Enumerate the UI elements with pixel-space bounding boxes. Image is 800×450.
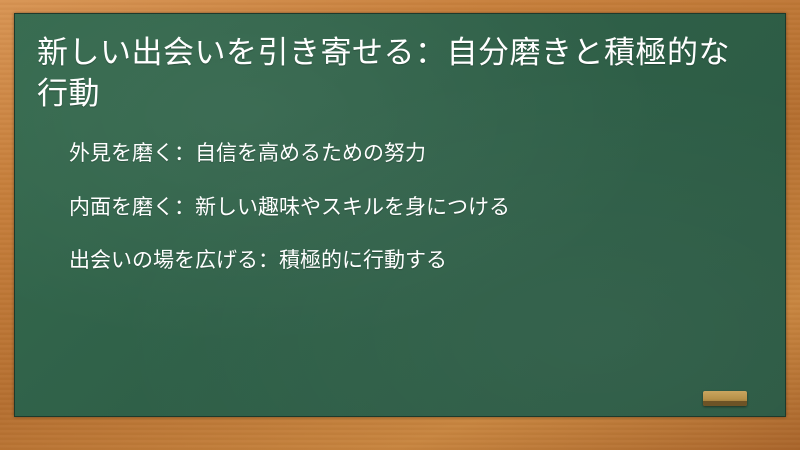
bullet-list: 外見を磨く：自信を高めるための努力 内面を磨く：新しい趣味やスキルを身につける …	[37, 140, 759, 274]
slide-content: 新しい出会いを引き寄せる：自分磨きと積極的な行動 外見を磨く：自信を高めるための…	[15, 14, 785, 416]
list-item: 内面を磨く：新しい趣味やスキルを身につける	[37, 194, 759, 221]
eraser-icon	[703, 391, 747, 406]
eraser-felt	[703, 401, 747, 406]
chalkboard: 新しい出会いを引き寄せる：自分磨きと積極的な行動 外見を磨く：自信を高めるための…	[14, 13, 786, 417]
list-item: 出会いの場を広げる：積極的に行動する	[37, 247, 759, 274]
chalkboard-slide: 新しい出会いを引き寄せる：自分磨きと積極的な行動 外見を磨く：自信を高めるための…	[0, 0, 800, 450]
list-item: 外見を磨く：自信を高めるための努力	[37, 140, 759, 167]
page-title: 新しい出会いを引き寄せる：自分磨きと積極的な行動	[37, 32, 737, 114]
